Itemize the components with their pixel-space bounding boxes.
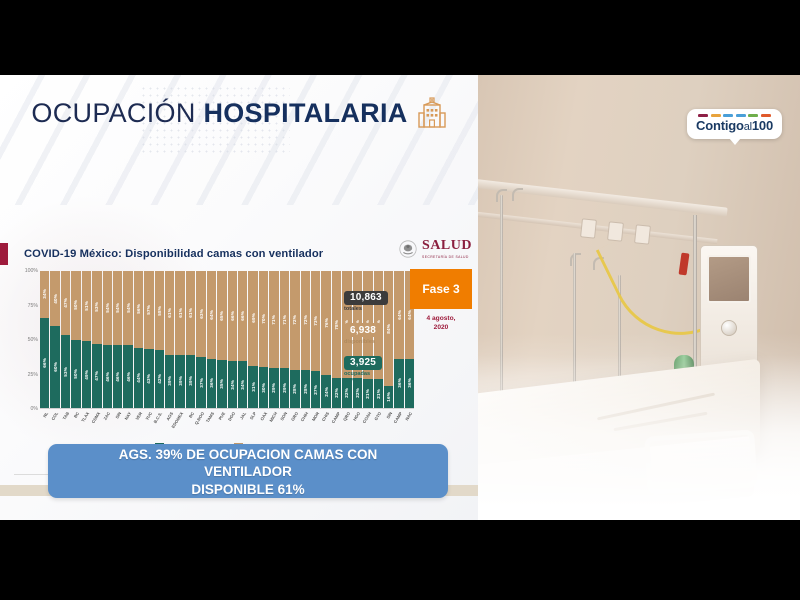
bar-segment-disponibilidad: 54% [123,271,132,345]
summary-stats: 10,863totales6,938disponibles3,925ocupad… [344,287,404,392]
bar-segment-ocupacion: 46% [123,345,132,408]
bar-value-label: 71% [271,315,276,325]
x-axis-tick-label: PUE [217,411,226,421]
bar-segment-ocupacion: 34% [238,361,247,408]
wall-outlet-icon [580,218,597,238]
stat-caption: disponibles [344,339,404,346]
wall-rail-secondary-icon [478,211,717,244]
bar-segment-disponibilidad: 61% [165,271,174,355]
bar-value-label: 47% [94,371,99,381]
stat-caption-line: totales [344,306,404,313]
x-axis-tick-label: GRO [290,411,299,422]
letterbox-top [0,0,800,75]
logo-dash [698,114,708,117]
logo-word-contigo: Contigo [696,118,744,133]
bar-value-label: 50% [73,369,78,379]
x-axis-tick: CAMP [394,410,403,436]
chart-bar: 70%30% [259,271,268,408]
x-axis-tick-label: SIN [114,411,122,420]
x-axis-tick: TLAX [82,410,91,436]
x-axis-tick-label: MICH [268,411,278,423]
logo-word-al: al [744,121,752,133]
bar-value-label: 71% [282,315,287,325]
logo-word-100: 100 [752,118,773,133]
chart-bar: 72%28% [301,271,310,408]
chart-bar: 61%39% [175,271,184,408]
x-axis-tick-label: CHIS [321,411,331,422]
x-axis-tick: TAB [61,410,70,436]
x-axis-tick: YUC [144,410,153,436]
bar-value-label: 66% [42,358,47,368]
y-axis-tick: 75% [28,303,38,309]
bar-value-label: 34% [42,289,47,299]
bar-segment-ocupacion: 36% [207,359,216,408]
x-axis-tick-label: B.C.S. [153,411,164,424]
x-axis-tick: GTO [374,410,383,436]
y-axis-tick: 100% [25,268,38,274]
bar-segment-ocupacion: 37% [196,357,205,408]
x-axis-tick: SIN [113,410,122,436]
chart-bar: 34%66% [40,271,49,408]
bar-value-label: 40% [53,294,58,304]
x-axis-tick-label: BC [73,411,80,419]
x-axis-tick-label: TAB [61,411,70,421]
bar-value-label: 42% [157,374,162,384]
x-axis-tick-label: NAC [405,411,414,421]
bar-segment-disponibilidad: 72% [290,271,299,370]
x-axis-tick-label: MOR [310,411,319,422]
chart-bar: 53%47% [92,271,101,408]
bar-value-label: 29% [271,383,276,393]
letterbox-bottom [0,520,800,600]
x-axis-tick-label: Q.ROO [194,411,206,425]
logo-dash [723,114,733,117]
x-axis-tick: SON [280,410,289,436]
chart-bar: 64%36% [207,271,216,408]
bar-value-label: 22% [334,388,339,398]
bar-segment-disponibilidad: 50% [71,271,80,340]
bar-segment-ocupacion: 53% [61,335,70,408]
bar-segment-ocupacion: 43% [144,349,153,408]
x-axis-tick-label: OAX [259,411,268,421]
x-axis-tick: B.C.S. [155,410,164,436]
bar-segment-ocupacion: 66% [40,318,49,408]
bar-value-label: 50% [73,300,78,310]
bar-segment-ocupacion: 44% [134,348,143,408]
bar-value-label: 39% [188,376,193,386]
logo-dashes [696,114,773,117]
chart-bar: 66%34% [228,271,237,408]
x-axis-tick-label: HGO [352,411,361,422]
bar-segment-ocupacion: 47% [92,344,101,408]
bar-segment-disponibilidad: 57% [144,271,153,349]
chart-bar: 73%27% [311,271,320,408]
x-axis-tick-label: COAH [361,411,372,424]
chart-bar: 51%49% [82,271,91,408]
x-axis-tick-label: CAMP [393,411,404,424]
x-axis-tick-label: CHIH [300,411,310,422]
chart-bar: 71%29% [280,271,289,408]
bar-value-label: 34% [240,380,245,390]
slide-header: OCUPACIÓN HOSPITALARIA [0,97,478,129]
chart-bar: 71%29% [269,271,278,408]
phase-badge: Fase 3 [410,269,472,309]
x-axis-tick: CHIH [301,410,310,436]
phase-date-line2: 2020 [410,324,472,333]
salud-logo: SALUD SECRETARÍA DE SALUD [399,239,472,259]
x-axis-tick-label: CDMX [90,411,101,424]
stat-caption: totales [344,306,404,313]
x-axis-tick: COAH [363,410,372,436]
bar-value-label: 46% [115,372,120,382]
bar-segment-disponibilidad: 51% [82,271,91,341]
stat-caption-line: ocupadas [344,371,404,378]
x-axis-tick: CAMP [332,410,341,436]
bar-value-label: 53% [63,367,68,377]
chart-bar: 54%46% [103,271,112,408]
x-axis-tick-label: QRO [342,411,351,422]
x-axis-tick: SLP [248,410,257,436]
bar-segment-disponibilidad: 65% [217,271,226,360]
banner-line-1: AGS. 39% DE OCUPACION CAMAS CON [48,446,448,463]
x-axis-tick-label: DGO [227,411,236,422]
phase-label: Fase 3 [422,282,459,296]
logo-dash [736,114,746,117]
chart-bar: 76%24% [321,271,330,408]
bar-value-label: 58% [157,306,162,316]
bar-segment-ocupacion: 35% [217,360,226,408]
x-axis-tick: EDOMEX [175,410,184,436]
banner-line-2: VENTILADOR [48,463,448,480]
bar-segment-ocupacion: 60% [50,326,59,408]
bar-value-label: 72% [292,315,297,325]
bar-segment-ocupacion: 29% [280,368,289,408]
bar-segment-disponibilidad: 53% [92,271,101,344]
contigo-al-100-logo: Contigoal100 [687,109,782,139]
screenshot-stage: OCUPACIÓN HOSPITALARIA [0,0,800,600]
chart-bar: 72%28% [290,271,299,408]
stat-value: 10,863 [344,291,388,305]
phase-date: 4 agosto, 2020 [410,315,472,333]
bar-segment-disponibilidad: 66% [228,271,237,361]
ventilator-screen-icon [707,255,751,303]
x-axis-tick: VER [134,410,143,436]
bar-segment-ocupacion: 24% [321,375,330,408]
bar-segment-disponibilidad: 61% [175,271,184,355]
x-axis-tick: GRO [290,410,299,436]
bar-segment-ocupacion: 39% [175,355,184,408]
bar-segment-ocupacion: 29% [269,368,278,408]
bar-value-label: 53% [94,302,99,312]
bar-value-label: 54% [126,303,131,313]
bar-segment-ocupacion: 28% [290,370,299,408]
bar-value-label: 66% [240,311,245,321]
bar-segment-ocupacion: 39% [186,355,195,408]
bar-segment-disponibilidad: 76% [321,271,330,375]
bar-segment-disponibilidad: 47% [61,271,70,335]
bar-value-label: 57% [146,305,151,315]
bar-value-label: 61% [178,308,183,318]
x-axis-tick: JAL [238,410,247,436]
bar-segment-ocupacion: 50% [71,340,80,409]
x-axis-tick-label: ZAC [103,411,112,421]
x-axis-tick: SIN [384,410,393,436]
bar-value-label: 29% [282,383,287,393]
bar-value-label: 70% [261,314,266,324]
bar-segment-disponibilidad: 71% [269,271,278,368]
bar-segment-ocupacion: 31% [248,366,257,408]
bar-segment-disponibilidad: 63% [196,271,205,357]
x-axis-tick: MOR [311,410,320,436]
subtitle-accent-bar [0,243,8,265]
chart-bar: 63%37% [196,271,205,408]
bar-segment-ocupacion: 22% [332,378,341,408]
bar-value-label: 39% [167,376,172,386]
bar-segment-ocupacion: 34% [228,361,237,408]
bar-segment-disponibilidad: 73% [311,271,320,371]
x-axis-tick: OAX [259,410,268,436]
x-axis-tick-label: NL [42,411,49,418]
salud-wordmark: SALUD [422,239,472,253]
stat-value: 3,925 [344,356,382,370]
chart-subtitle: COVID-19 México: Disponibilidad camas co… [24,248,323,260]
bar-value-label: 66% [230,311,235,321]
hospital-building-icon [417,97,447,129]
x-axis-tick: QRO [342,410,351,436]
bar-segment-disponibilidad: 61% [186,271,195,355]
bar-value-label: 69% [251,313,256,323]
chart-bar: 69%31% [248,271,257,408]
bar-value-label: 54% [115,303,120,313]
x-axis-tick: CHIS [321,410,330,436]
chart-bar: 47%53% [61,271,70,408]
bar-segment-ocupacion: 42% [155,350,164,408]
x-axis-tick: ZAC [103,410,112,436]
bar-segment-disponibilidad: 69% [248,271,257,366]
bar-segment-disponibilidad: 66% [238,271,247,361]
bar-value-label: 28% [303,384,308,394]
y-axis-tick: 0% [31,406,39,412]
bar-value-label: 47% [63,298,68,308]
bar-value-label: 72% [303,315,308,325]
bar-value-label: 46% [126,372,131,382]
chart-bar: 66%34% [238,271,247,408]
iv-hook-icon [512,188,523,201]
bar-segment-disponibilidad: 56% [134,271,143,348]
bar-segment-disponibilidad: 54% [103,271,112,345]
x-axis-tick-label: SON [280,411,289,421]
chart-x-axis-labels: NLCOLTABBCTLAXCDMXZACSINNAYVERYUCB.C.S.A… [40,410,414,436]
x-axis-tick: DGO [228,410,237,436]
x-axis-tick: NAY [123,410,132,436]
x-axis-tick: CDMX [92,410,101,436]
x-axis-tick-label: NAY [124,411,133,421]
bar-segment-disponibilidad: 34% [40,271,49,318]
bar-segment-ocupacion: 46% [113,345,122,408]
bar-value-label: 56% [136,304,141,314]
x-axis-tick-label: VER [134,411,143,421]
bar-segment-disponibilidad: 54% [113,271,122,345]
logo-dash [711,114,721,117]
hospital-room-photo: Contigoal100 [478,75,800,520]
bar-value-label: 76% [324,318,329,328]
chart-bar: 61%39% [186,271,195,408]
chart-bar: 57%43% [144,271,153,408]
x-axis-tick-label: JAL [239,411,247,420]
bar-value-label: 35% [219,379,224,389]
chart-bar: 54%46% [113,271,122,408]
title-light-part: OCUPACIÓN [31,98,195,128]
bar-segment-disponibilidad: 40% [50,271,59,326]
bar-value-label: 36% [209,378,214,388]
salud-subtitle: SECRETARÍA DE SALUD [422,255,472,259]
bar-value-label: 54% [105,303,110,313]
bar-value-label: 44% [136,373,141,383]
bar-value-label: 39% [178,376,183,386]
bar-segment-disponibilidad: 58% [155,271,164,350]
bar-segment-ocupacion: 36% [405,359,414,408]
bar-value-label: 30% [261,383,266,393]
bar-segment-ocupacion: 28% [301,370,310,408]
logo-dash [748,114,758,117]
x-axis-tick-label: SLP [249,411,258,421]
bar-segment-ocupacion: 30% [259,367,268,408]
chart-y-axis: 0%25%50%75%100% [14,271,40,409]
stat-caption-line: disponibles [344,339,404,346]
bar-value-label: 49% [84,370,89,380]
bar-value-label: 73% [313,316,318,326]
bar-segment-disponibilidad: 72% [301,271,310,370]
bar-segment-disponibilidad: 70% [259,271,268,367]
chart-bar: 78%22% [332,271,341,408]
x-axis-tick: NL [40,410,49,436]
mexico-eagle-emblem-icon [399,240,417,258]
bar-value-label: 65% [219,311,224,321]
x-axis-tick-label: SIN [385,411,393,420]
bar-value-label: 31% [251,382,256,392]
x-axis-tick-label: AGS [165,411,174,421]
x-axis-tick-label: TAMS [205,411,215,423]
bar-value-label: 28% [292,384,297,394]
x-axis-tick: BC [71,410,80,436]
x-axis-tick-label: CAMP [330,411,341,424]
x-axis-tick: COL [50,410,59,436]
stat-caption: ocupadas(36%) [344,371,404,384]
photo-image [478,75,800,520]
lower-third-text: AGS. 39% DE OCUPACION CAMAS CON VENTILAD… [48,446,448,498]
chart-bar: 40%60% [50,271,59,408]
x-axis-tick-label: COL [50,411,59,421]
x-axis-tick: TAMS [207,410,216,436]
bar-segment-disponibilidad: 71% [280,271,289,368]
bar-segment-ocupacion: 27% [311,371,320,408]
bar-value-label: 61% [188,308,193,318]
bar-segment-disponibilidad: 78% [332,271,341,378]
y-axis-tick: 25% [28,372,38,378]
y-axis-tick: 50% [28,337,38,343]
stat-callout: 3,925ocupadas(36%) [344,352,404,384]
stat-callout: 10,863totales [344,287,404,313]
bar-value-label: 51% [84,301,89,311]
bar-segment-ocupacion: 46% [103,345,112,408]
chart-bar: 61%39% [165,271,174,408]
x-axis-tick-label: YUC [144,411,153,421]
stat-caption-line: (36%) [344,378,404,385]
bar-value-label: 16% [386,392,391,402]
bar-value-label: 37% [199,378,204,388]
ventilator-knob-icon [721,320,737,336]
bar-value-label: 24% [324,387,329,397]
chart-bar: 56%44% [134,271,143,408]
x-axis-tick: PUE [217,410,226,436]
chart-bar: 65%35% [217,271,226,408]
chart-bar: 58%42% [155,271,164,408]
banner-line-3: DISPONIBLE 61% [48,481,448,498]
bar-value-label: 61% [167,308,172,318]
bar-value-label: 46% [105,372,110,382]
title-bold-part: HOSPITALARIA [203,98,407,128]
bar-value-label: 60% [53,362,58,372]
bar-value-label: 63% [199,309,204,319]
stat-value: 6,938 [344,323,382,337]
x-axis-tick-label: GTO [373,411,382,421]
chart-bar: 50%50% [71,271,80,408]
bar-value-label: 64% [209,310,214,320]
bar-value-label: 34% [230,380,235,390]
bar-segment-ocupacion: 39% [165,355,174,408]
chart-bar: 54%46% [123,271,132,408]
photo-bottom-fade [478,355,800,520]
x-axis-tick: Q.ROO [196,410,205,436]
logo-dash [761,114,771,117]
bar-value-label: 36% [407,378,412,388]
x-axis-tick: MICH [269,410,278,436]
x-axis-tick: NAC [405,410,414,436]
bar-value-label: 43% [146,374,151,384]
bar-segment-ocupacion: 49% [82,341,91,408]
bar-value-label: 27% [313,385,318,395]
phase-date-line1: 4 agosto, [410,315,472,324]
bar-segment-disponibilidad: 64% [207,271,216,359]
bar-value-label: 78% [334,320,339,330]
logo-wordmark: Contigoal100 [696,119,773,133]
x-axis-tick: HGO [353,410,362,436]
stat-callout: 6,938disponibles [344,320,404,346]
page-title: OCUPACIÓN HOSPITALARIA [31,98,407,129]
x-axis-tick-label: BC [187,411,194,419]
